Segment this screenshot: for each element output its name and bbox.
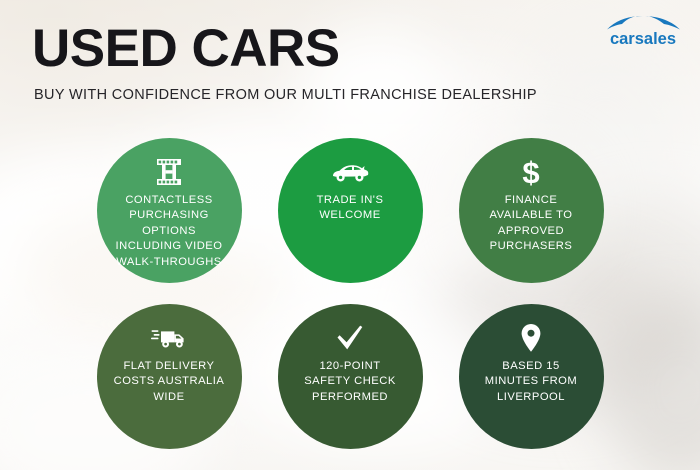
feature-badge-safety-check[interactable]: 120-POINT SAFETY CHECK PERFORMED	[278, 304, 423, 449]
film-strip-icon	[154, 155, 184, 189]
sports-car-icon	[331, 155, 369, 189]
feature-badge-label: TRADE IN'S WELCOME	[309, 193, 392, 224]
carsales-logo[interactable]: carsales	[600, 16, 686, 50]
svg-text:carsales: carsales	[610, 30, 676, 48]
svg-text:$: $	[522, 156, 539, 188]
feature-badge-grid: CONTACTLESS PURCHASING OPTIONS INCLUDING…	[0, 138, 700, 449]
feature-badge-finance-available[interactable]: $ FINANCE AVAILABLE TO APPROVED PURCHASE…	[459, 138, 604, 283]
feature-badge-label: BASED 15 MINUTES FROM LIVERPOOL	[477, 359, 585, 405]
page-title: USED CARS	[32, 22, 537, 76]
delivery-truck-icon	[151, 321, 187, 355]
feature-badge-flat-delivery-costs[interactable]: FLAT DELIVERY COSTS AUSTRALIA WIDE	[97, 304, 242, 449]
used-cars-promo-banner: USED CARS BUY WITH CONFIDENCE FROM OUR M…	[0, 0, 700, 470]
dollar-sign-icon: $	[518, 155, 544, 189]
feature-badge-trade-ins-welcome[interactable]: TRADE IN'S WELCOME	[278, 138, 423, 283]
feature-badge-label: CONTACTLESS PURCHASING OPTIONS INCLUDING…	[110, 193, 229, 270]
feature-row-top: CONTACTLESS PURCHASING OPTIONS INCLUDING…	[0, 138, 700, 283]
banner-subtitle: BUY WITH CONFIDENCE FROM OUR MULTI FRANC…	[34, 85, 537, 106]
feature-badge-label: FLAT DELIVERY COSTS AUSTRALIA WIDE	[108, 359, 231, 405]
feature-row-bottom: FLAT DELIVERY COSTS AUSTRALIA WIDE 120-P…	[0, 304, 700, 449]
checkmark-icon	[336, 321, 364, 355]
banner-header: USED CARS BUY WITH CONFIDENCE FROM OUR M…	[32, 22, 537, 106]
feature-badge-based-near-liverpool[interactable]: BASED 15 MINUTES FROM LIVERPOOL	[459, 304, 604, 449]
feature-badge-label: 120-POINT SAFETY CHECK PERFORMED	[296, 359, 404, 405]
feature-badge-contactless-purchasing[interactable]: CONTACTLESS PURCHASING OPTIONS INCLUDING…	[97, 138, 242, 283]
map-pin-icon	[520, 321, 542, 355]
feature-badge-label: FINANCE AVAILABLE TO APPROVED PURCHASERS	[482, 193, 581, 255]
